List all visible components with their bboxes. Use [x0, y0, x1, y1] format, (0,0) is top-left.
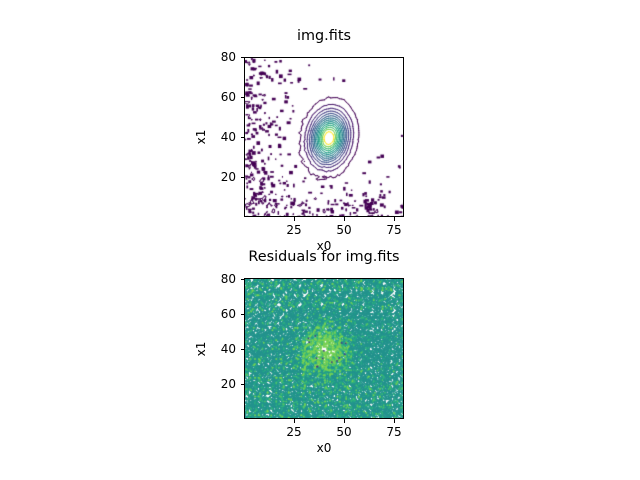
top-yaxis-label: x1 [195, 112, 207, 162]
top-yticklabel-80: 80 [200, 51, 236, 63]
bottom-yaxis-label: x1 [195, 324, 207, 374]
top-yticklabel-20: 20 [200, 171, 236, 183]
bottom-ytick-60 [241, 314, 245, 315]
top-xtick-50 [344, 217, 345, 221]
bottom-xtick-25 [294, 419, 295, 423]
top-ytick-60 [241, 97, 245, 98]
bottom-xtick-50 [344, 419, 345, 423]
top-ytick-20 [241, 177, 245, 178]
bottom-yticklabel-80: 80 [200, 273, 236, 285]
bottom-ytick-80 [241, 279, 245, 280]
bottom-xticklabel-75: 75 [374, 426, 414, 438]
bottom-ytick-20 [241, 384, 245, 385]
top-ytick-80 [241, 57, 245, 58]
matplotlib-figure: img.fits 20 40 60 80 25 50 75 x0 x1 Resi… [0, 0, 640, 480]
bottom-contour-canvas [245, 279, 404, 419]
top-xtick-75 [394, 217, 395, 221]
top-xtick-25 [294, 217, 295, 221]
top-yticklabel-60: 60 [200, 91, 236, 103]
top-contour-canvas [245, 58, 404, 217]
top-xticklabel-75: 75 [374, 224, 414, 236]
bottom-axes-frame [244, 278, 404, 419]
bottom-xticklabel-25: 25 [274, 426, 314, 438]
top-xticklabel-25: 25 [274, 224, 314, 236]
top-ytick-40 [241, 137, 245, 138]
top-axes-frame [244, 57, 404, 217]
top-xticklabel-50: 50 [324, 224, 364, 236]
bottom-yticklabel-20: 20 [200, 378, 236, 390]
bottom-xtick-75 [394, 419, 395, 423]
bottom-xticklabel-50: 50 [324, 426, 364, 438]
bottom-axes-title: Residuals for img.fits [234, 250, 414, 264]
bottom-yticklabel-60: 60 [200, 308, 236, 320]
bottom-xaxis-label: x0 [284, 442, 364, 454]
top-axes-title: img.fits [244, 29, 404, 43]
bottom-ytick-40 [241, 349, 245, 350]
